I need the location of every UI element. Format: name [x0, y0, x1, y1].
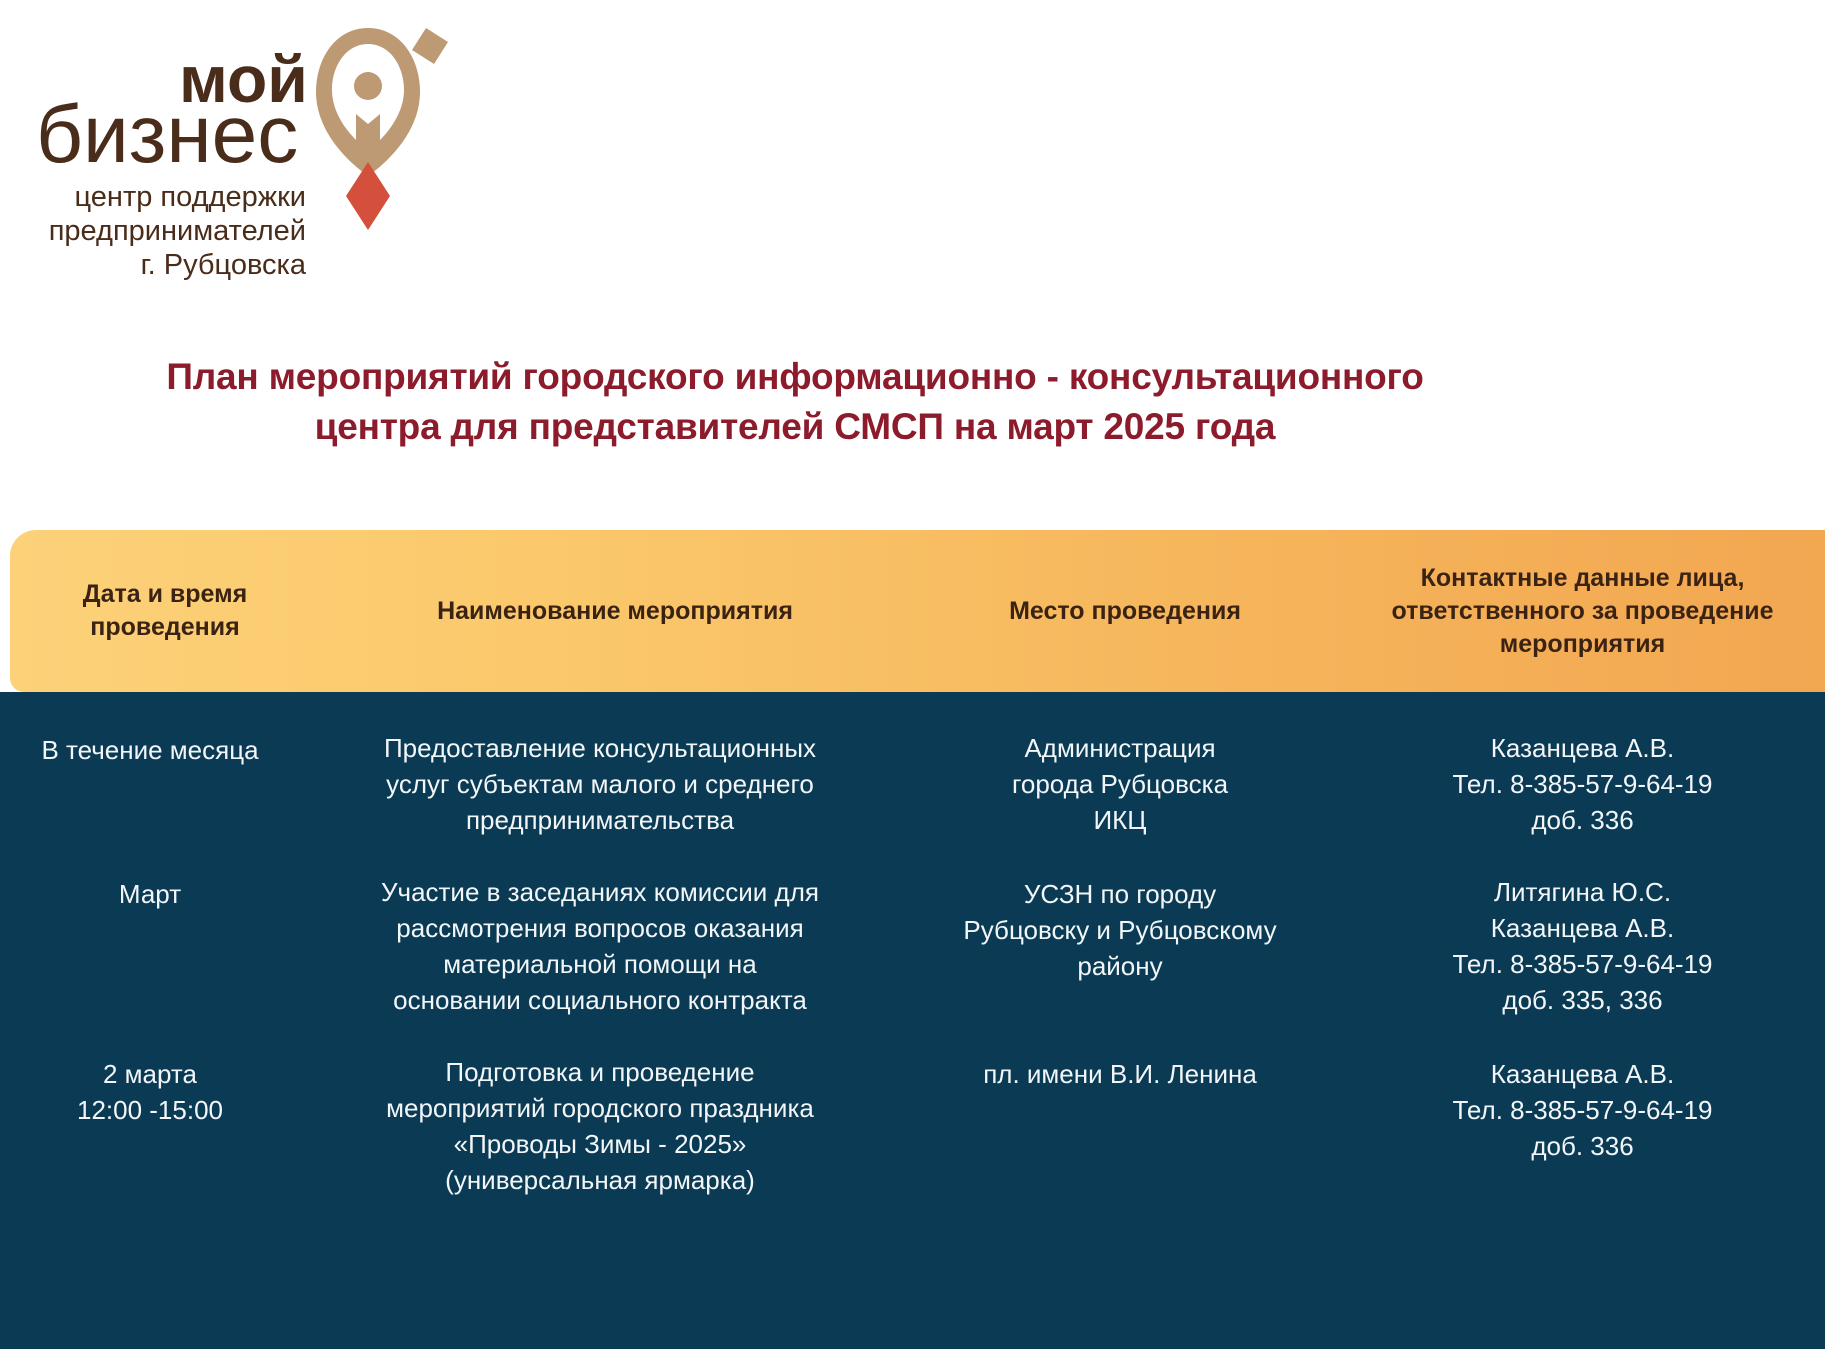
organization-logo: мой бизнес центр поддержки предпринимате… [28, 10, 508, 290]
column-header-date: Дата и время проведения [10, 578, 320, 644]
events-table: Дата и время проведения Наименование мер… [0, 530, 1825, 1349]
cell-venue: УСЗН по городу Рубцовску и Рубцовскому р… [900, 874, 1340, 984]
location-pin-icon [316, 28, 448, 230]
column-header-contact: Контактные данные лица, ответственного з… [1340, 562, 1825, 661]
table-row: 2 марта 12:00 -15:00 Подготовка и провед… [0, 1054, 1825, 1198]
cell-contact: Литягина Ю.С. Казанцева А.В. Тел. 8-385-… [1340, 874, 1825, 1018]
cell-event-name: Предоставление консультационных услуг су… [300, 730, 900, 838]
cell-event-name: Подготовка и проведение мероприятий горо… [300, 1054, 900, 1198]
cell-event-name: Участие в заседаниях комиссии для рассмо… [300, 874, 900, 1018]
cell-contact: Казанцева А.В. Тел. 8-385-57-9-64-19 доб… [1340, 1054, 1825, 1164]
cell-venue: пл. имени В.И. Ленина [900, 1054, 1340, 1092]
cell-date: 2 марта 12:00 -15:00 [0, 1054, 300, 1128]
cell-contact: Казанцева А.В. Тел. 8-385-57-9-64-19 доб… [1340, 730, 1825, 838]
logo-graphic: мой бизнес центр поддержки предпринимате… [28, 10, 508, 290]
page-title-line-1: План мероприятий городского информационн… [0, 352, 1590, 402]
logo-tagline-line-3: г. Рубцовска [141, 249, 307, 281]
logo-word-main: бизнес [36, 89, 298, 180]
cell-date: Март [0, 874, 300, 912]
column-header-venue: Место проведения [910, 595, 1340, 628]
column-header-event-name: Наименование мероприятия [320, 595, 910, 628]
cell-venue: Администрация города Рубцовска ИКЦ [900, 730, 1340, 838]
logo-tagline-line-1: центр поддержки [75, 181, 306, 213]
table-body: В течение месяца Предоставление консульт… [0, 692, 1825, 1349]
page-title-line-2: центра для представителей СМСП на март 2… [0, 402, 1590, 452]
logo-tagline-line-2: предпринимателей [49, 215, 306, 247]
page-title: План мероприятий городского информационн… [0, 352, 1590, 452]
table-header-row: Дата и время проведения Наименование мер… [10, 530, 1825, 692]
table-row: В течение месяца Предоставление консульт… [0, 730, 1825, 838]
table-row: Март Участие в заседаниях комиссии для р… [0, 874, 1825, 1018]
cell-date: В течение месяца [0, 730, 300, 768]
